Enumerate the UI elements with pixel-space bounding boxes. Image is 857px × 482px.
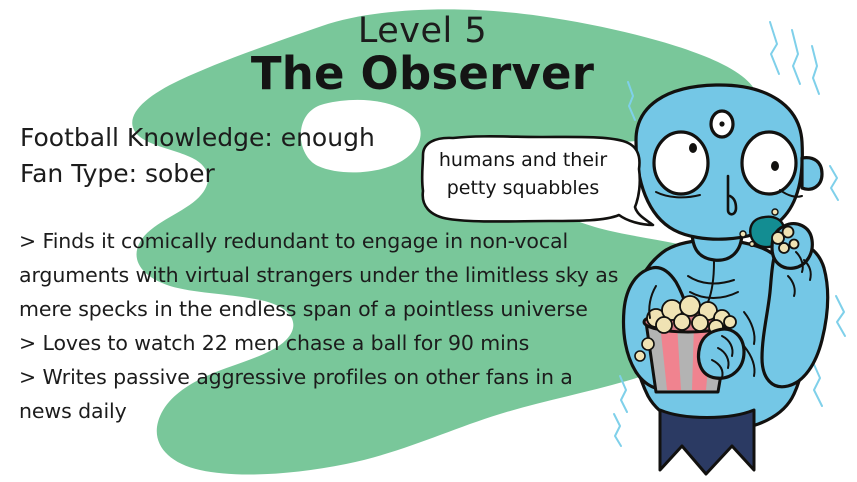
text-layer: Level 5 The Observer Football Knowledge:…	[0, 0, 857, 482]
traits-list: > Finds it comically redundant to engage…	[19, 224, 624, 428]
character-card: Level 5 The Observer Football Knowledge:…	[0, 0, 857, 482]
speech-bubble-line-2: petty squabbles	[423, 174, 623, 202]
trait-item: > Writes passive aggressive profiles on …	[19, 360, 624, 428]
level-label: Level 5	[0, 14, 857, 49]
speech-bubble-text: humans and their petty squabbles	[423, 146, 623, 202]
speech-bubble: humans and their petty squabbles	[409, 133, 637, 221]
page-title: The Observer	[0, 49, 857, 99]
speech-bubble-line-1: humans and their	[423, 146, 623, 174]
trait-item: > Loves to watch 22 men chase a ball for…	[19, 326, 624, 360]
title-block: Level 5 The Observer	[0, 14, 857, 99]
